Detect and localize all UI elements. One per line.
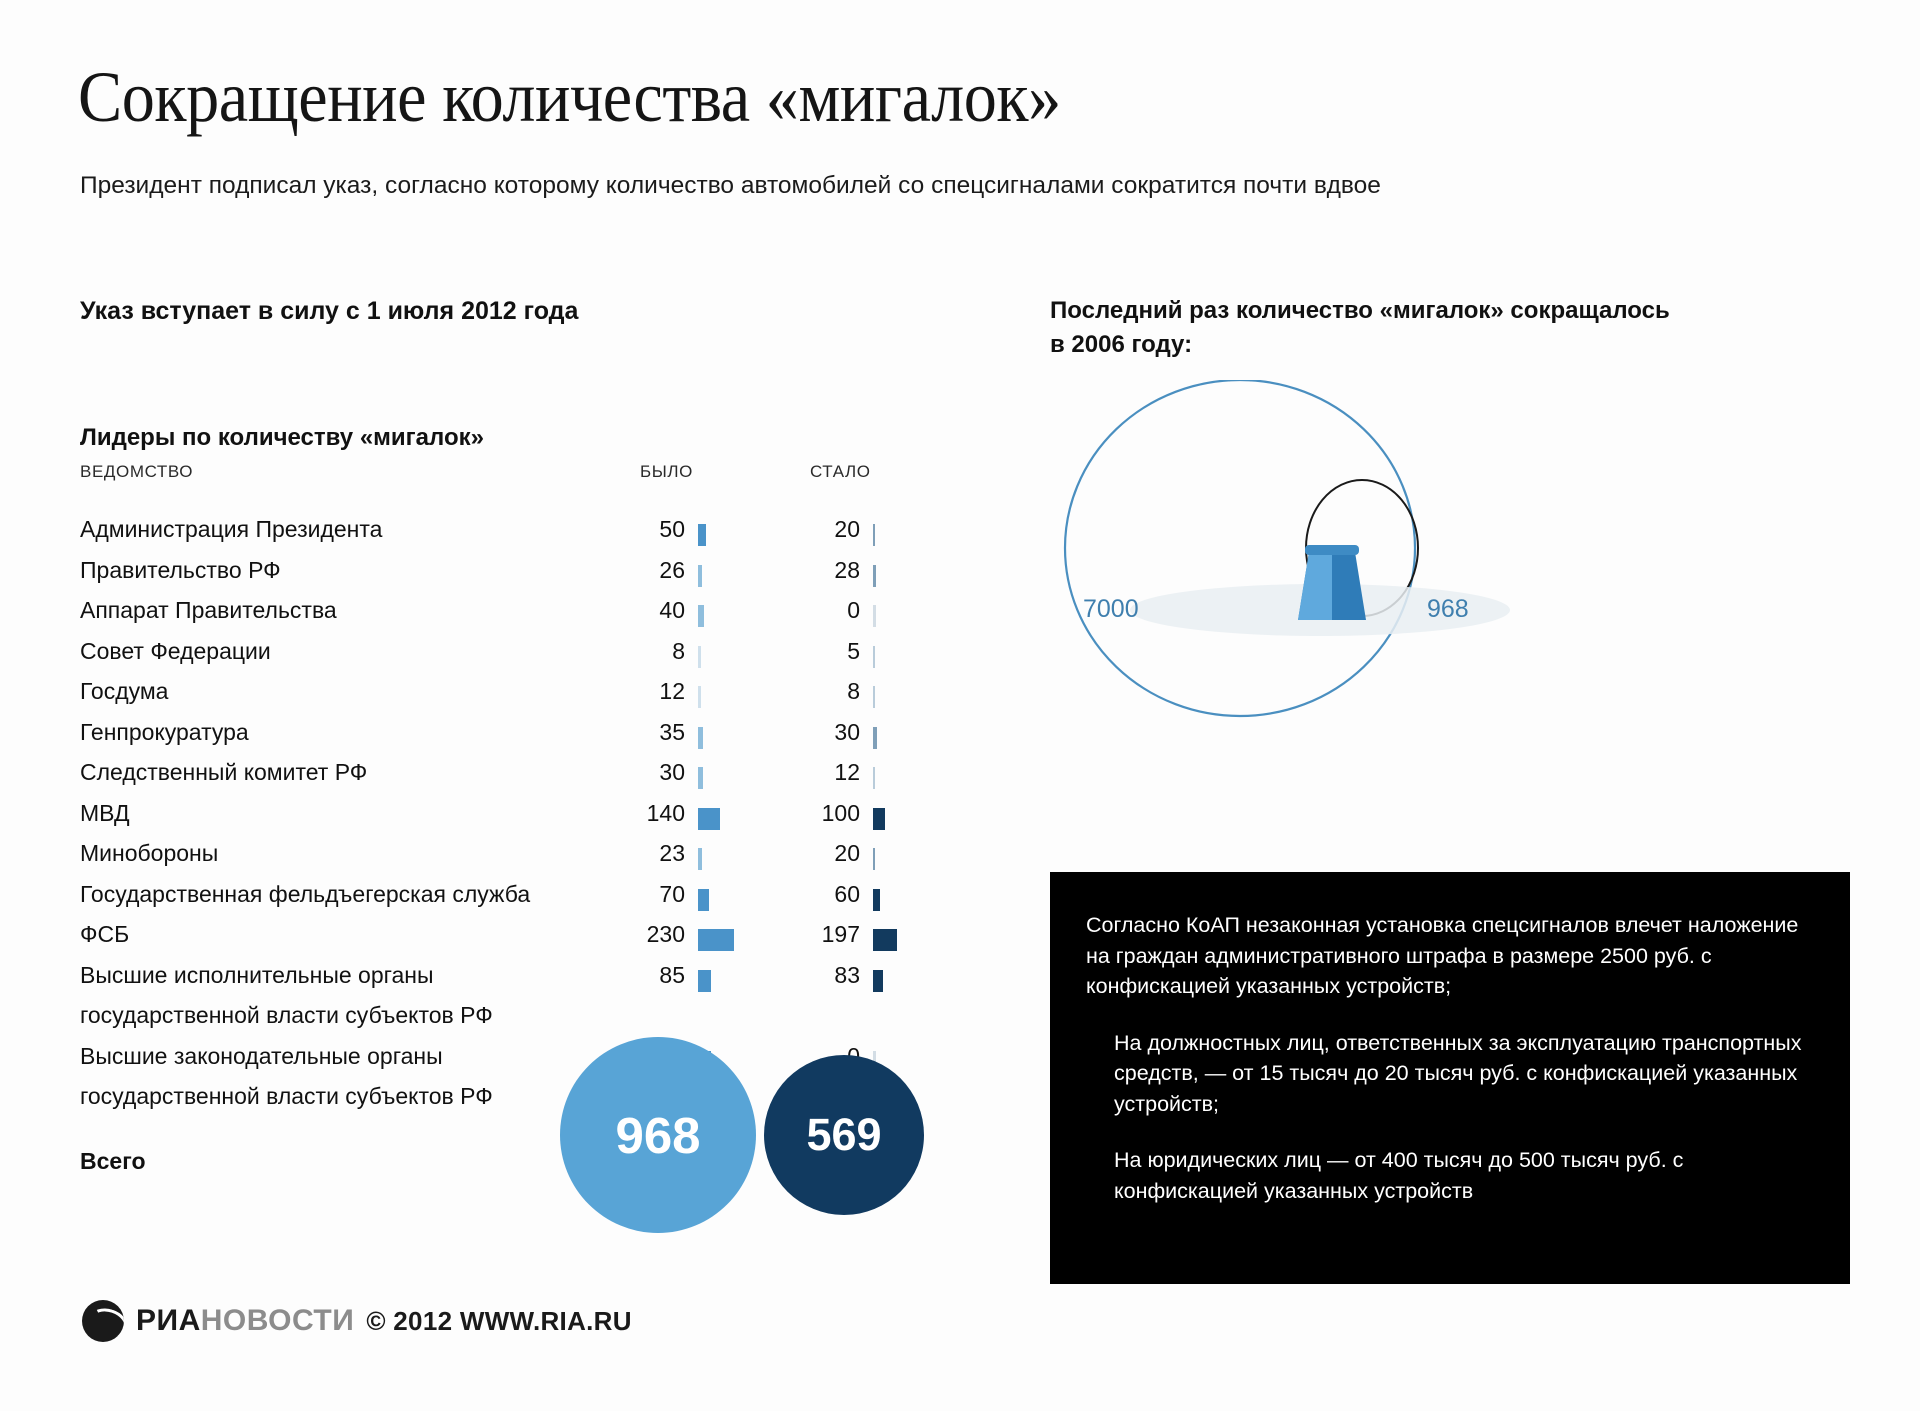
value-now: 83: [730, 962, 860, 989]
infographic-page: Сокращение количества «мигалок» Президен…: [0, 0, 1920, 1411]
bar-now: [873, 848, 875, 870]
leaders-table: ВЕДОМСТВО БЫЛО СТАЛО Администрация Прези…: [80, 462, 910, 1124]
table-row: Высшие исполнительные органы8583: [80, 962, 910, 1003]
table-row: Государственная фельдъегерская служба706…: [80, 881, 910, 922]
row-label: Высшие исполнительные органы: [80, 962, 434, 989]
value-now: 12: [730, 759, 860, 786]
table-body: Администрация Президента5020Правительств…: [80, 516, 910, 1124]
value-was: 23: [560, 840, 685, 867]
penalty-paragraph: Согласно КоАП незаконная установка спецс…: [1086, 910, 1821, 1002]
row-label: Аппарат Правительства: [80, 597, 337, 624]
value-now: 60: [730, 881, 860, 908]
row-label: Минобороны: [80, 840, 218, 867]
bar-was: [698, 727, 703, 749]
row-label: Госдума: [80, 678, 168, 705]
row-label-continuation: государственной власти субъектов РФ: [80, 1002, 493, 1029]
table-row: Госдума128: [80, 678, 910, 719]
value-was: 12: [560, 678, 685, 705]
bar-now: [873, 767, 875, 789]
bar-was: [698, 565, 702, 587]
row-label: Государственная фельдъегерская служба: [80, 881, 530, 908]
bar-now: [873, 524, 875, 546]
table-row: Минобороны2320: [80, 840, 910, 881]
penalty-paragraph: На должностных лиц, ответственных за экс…: [1086, 1028, 1821, 1120]
ria-brand-light: НОВОСТИ: [201, 1304, 355, 1337]
value-was: 35: [560, 719, 685, 746]
bar-now: [873, 929, 897, 951]
bar-now: [873, 605, 876, 627]
table-header-row: ВЕДОМСТВО БЫЛО СТАЛО: [80, 462, 910, 492]
bar-was: [698, 605, 704, 627]
row-label: ФСБ: [80, 921, 129, 948]
bar-now: [873, 565, 876, 587]
value-was: 70: [560, 881, 685, 908]
table-row: Генпрокуратура3530: [80, 719, 910, 760]
row-label: Совет Федерации: [80, 638, 271, 665]
bar-now: [873, 686, 875, 708]
bar-was: [698, 524, 706, 546]
value-was: 50: [560, 516, 685, 543]
bar-now: [873, 727, 877, 749]
total-label: Всего: [80, 1148, 146, 1175]
column-header-was: БЫЛО: [640, 462, 693, 482]
value-was: 26: [560, 557, 685, 584]
table-row: Совет Федерации85: [80, 638, 910, 679]
penalty-paragraph: На юридических лиц — от 400 тысяч до 500…: [1086, 1145, 1821, 1206]
value-now: 5: [730, 638, 860, 665]
row-label: Высшие законодательные органы: [80, 1043, 443, 1070]
ria-brand: РИАНОВОСТИ: [136, 1304, 354, 1338]
value-now: 197: [730, 921, 860, 948]
scale-comparison-diagram: [1010, 380, 1630, 740]
bar-was: [698, 970, 711, 992]
bar-was: [698, 686, 701, 708]
row-label: Следственный комитет РФ: [80, 759, 367, 786]
page-subtitle: Президент подписал указ, согласно которо…: [80, 172, 1381, 200]
value-now: 20: [730, 840, 860, 867]
value-now: 30: [730, 719, 860, 746]
table-row: ФСБ230197: [80, 921, 910, 962]
bar-was: [698, 848, 702, 870]
bar-was: [698, 929, 734, 951]
decree-effective-date: Указ вступает в силу с 1 июля 2012 года: [80, 297, 578, 326]
table-row: Администрация Президента5020: [80, 516, 910, 557]
table-row: Аппарат Правительства400: [80, 597, 910, 638]
row-label: Администрация Президента: [80, 516, 382, 543]
value-was: 40: [560, 597, 685, 624]
page-title: Сокращение количества «мигалок»: [78, 56, 1061, 139]
value-now: 28: [730, 557, 860, 584]
column-header-department: ВЕДОМСТВО: [80, 462, 193, 482]
total-was-circle: 968: [560, 1037, 756, 1233]
value-now: 0: [730, 597, 860, 624]
history-heading-line2: в 2006 году:: [1050, 328, 1670, 362]
value-was: 85: [560, 962, 685, 989]
bar-now: [873, 970, 883, 992]
total-now-circle: 569: [764, 1055, 924, 1215]
row-label: МВД: [80, 800, 130, 827]
beacon-base: [1305, 545, 1359, 555]
bar-was: [698, 808, 720, 830]
table-row: МВД140100: [80, 800, 910, 841]
penalties-box: Согласно КоАП незаконная установка спецс…: [1050, 872, 1850, 1284]
value-was: 230: [560, 921, 685, 948]
row-label-continuation: государственной власти субъектов РФ: [80, 1083, 493, 1110]
table-row: Правительство РФ2628: [80, 557, 910, 598]
ria-url: © 2012 WWW.RIA.RU: [366, 1306, 632, 1337]
column-header-now: СТАЛО: [810, 462, 871, 482]
table-row: Следственный комитет РФ3012: [80, 759, 910, 800]
leaders-heading: Лидеры по количеству «мигалок»: [80, 424, 484, 452]
diagram-label-968: 968: [1427, 595, 1469, 624]
value-was: 8: [560, 638, 685, 665]
history-heading-line1: Последний раз количество «мигалок» сокра…: [1050, 294, 1670, 328]
row-label: Правительство РФ: [80, 557, 281, 584]
bar-was: [698, 767, 703, 789]
bar-now: [873, 808, 885, 830]
penalties-text: Согласно КоАП незаконная установка спецс…: [1086, 910, 1821, 1232]
bar-now: [873, 889, 880, 911]
table-row-continuation: государственной власти субъектов РФ: [80, 1002, 910, 1043]
row-label: Генпрокуратура: [80, 719, 249, 746]
bar-was: [698, 646, 701, 668]
table-row: Высшие законодательные органы830: [80, 1043, 910, 1084]
value-now: 20: [730, 516, 860, 543]
value-now: 100: [730, 800, 860, 827]
bar-was: [698, 889, 709, 911]
value-was: 140: [560, 800, 685, 827]
ria-brand-bold: РИА: [136, 1304, 201, 1337]
history-heading: Последний раз количество «мигалок» сокра…: [1050, 294, 1670, 362]
diagram-label-7000: 7000: [1083, 595, 1139, 624]
footer: РИАНОВОСТИ © 2012 WWW.RIA.RU: [82, 1300, 632, 1342]
bar-now: [873, 646, 875, 668]
ria-logo-icon: [82, 1300, 124, 1342]
diagram-svg: [1010, 380, 1630, 740]
value-was: 30: [560, 759, 685, 786]
value-now: 8: [730, 678, 860, 705]
outer-ellipse-7000: [1065, 380, 1415, 716]
